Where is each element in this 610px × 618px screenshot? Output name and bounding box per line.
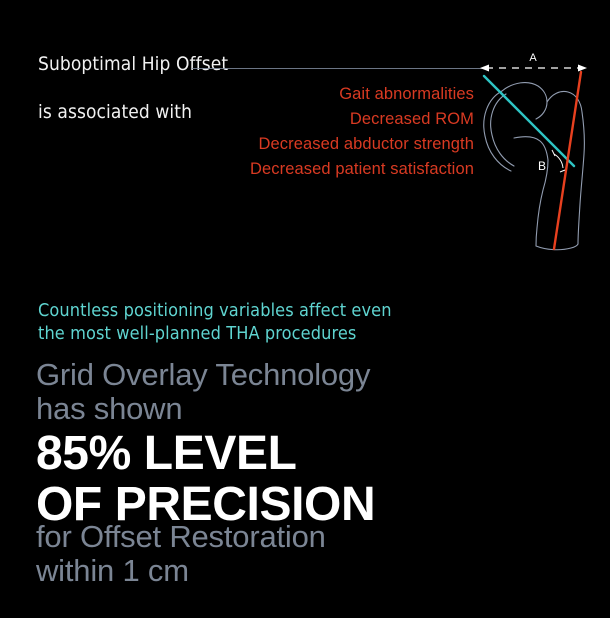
grid-overlay-lead: Grid Overlay Technology has shown — [36, 358, 370, 426]
dimension-arrow-left — [480, 65, 489, 72]
teal-statement-line-2: the most well-planned THA procedures — [38, 322, 392, 345]
femoral-neck-axis — [484, 76, 574, 166]
list-item: Gait abnormalities — [120, 82, 474, 107]
precision-statistic-line-1: 85% LEVEL — [36, 428, 375, 479]
infographic-canvas: Suboptimal Hip Offset is associated with… — [0, 0, 610, 618]
list-item: Decreased ROM — [120, 107, 474, 132]
proximal-femur-diagram: A B — [468, 44, 610, 259]
offset-restoration-note-line-2: within 1 cm — [36, 554, 326, 588]
femur-bone-outline — [484, 83, 585, 250]
teal-statement: Countless positioning variables affect e… — [38, 299, 392, 345]
femoral-shaft-axis — [554, 72, 581, 249]
offset-restoration-note: for Offset Restoration within 1 cm — [36, 520, 326, 588]
page-title-line-1: Suboptimal Hip Offset — [38, 52, 228, 76]
list-item: Decreased abductor strength — [120, 132, 474, 157]
grid-overlay-lead-line-2: has shown — [36, 392, 370, 426]
angle-label-b: B — [538, 159, 546, 173]
teal-statement-line-1: Countless positioning variables affect e… — [38, 299, 392, 322]
precision-statistic: 85% LEVEL OF PRECISION — [36, 428, 375, 530]
angle-indicator-b — [552, 150, 565, 172]
list-item: Decreased patient satisfaction — [120, 157, 474, 182]
offset-restoration-note-line-1: for Offset Restoration — [36, 520, 326, 554]
dimension-label-a: A — [529, 52, 537, 64]
divider-rule — [192, 68, 483, 69]
dimension-arrow-right — [578, 65, 587, 72]
consequence-list: Gait abnormalities Decreased ROM Decreas… — [120, 82, 474, 182]
grid-overlay-lead-line-1: Grid Overlay Technology — [36, 358, 370, 392]
